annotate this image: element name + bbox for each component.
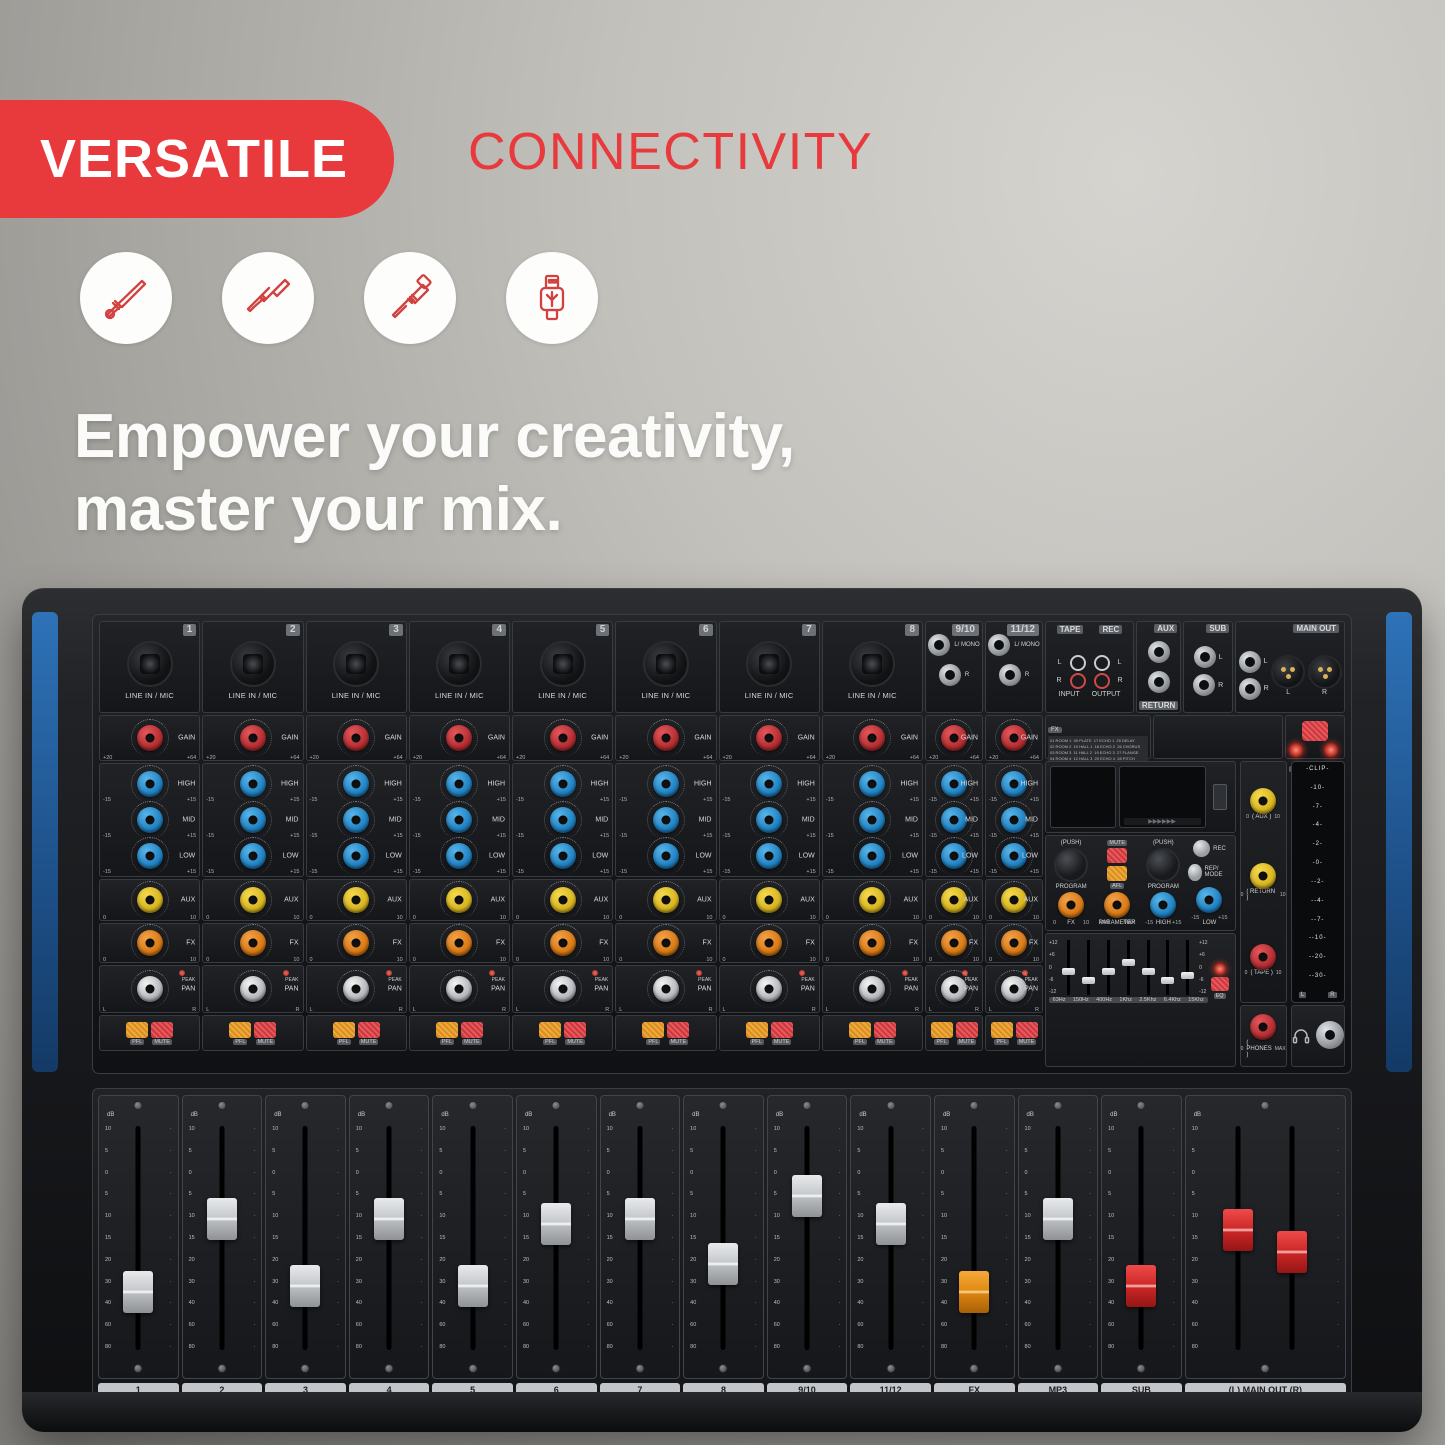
stereo-jack-cell-11/12[interactable]: 11/12 L/ MONO R (985, 621, 1043, 713)
knob-body-high[interactable] (343, 771, 369, 797)
master-knob-body[interactable] (1250, 788, 1276, 814)
knob-body-fx[interactable] (343, 930, 369, 956)
mute-label: MUTE (462, 1039, 482, 1045)
knob-body-gain[interactable] (653, 725, 679, 751)
fader-track[interactable] (136, 1126, 141, 1350)
power-led (1289, 743, 1303, 757)
fader-scale-tick: 30 (439, 1279, 445, 1285)
screw-bottom (635, 1364, 644, 1373)
sub-jack-left[interactable] (1194, 646, 1216, 668)
xlr-trs-combo-jack[interactable] (849, 641, 895, 687)
eq-slider-cap[interactable] (1062, 968, 1075, 975)
knob-mid[interactable]: MID -15 +15 (986, 802, 1042, 838)
mute-button-group[interactable]: MUTE (874, 1022, 896, 1045)
mute-button[interactable] (667, 1022, 689, 1038)
knob-high[interactable]: HIGH -15 +15 (100, 766, 199, 802)
knob-gain[interactable]: GAIN +20 +64 (616, 716, 715, 760)
knob-pan[interactable]: PAN L R (616, 966, 715, 1012)
knob-gain[interactable]: GAIN +20 +64 (513, 716, 612, 760)
knob-body-fx[interactable] (240, 930, 266, 956)
xlr-trs-combo-jack[interactable] (540, 641, 586, 687)
program-encoder-2[interactable] (1146, 848, 1180, 882)
knob-aux[interactable]: AUX 0 10 (203, 880, 302, 920)
knob-low[interactable]: LOW -15 +15 (616, 838, 715, 874)
dsp-afl-button[interactable] (1107, 866, 1127, 881)
master-knob-return[interactable]: 0 ( RETURN ) 10 (1241, 863, 1286, 901)
input-jack-cell-5[interactable]: 5 LINE IN / MIC (512, 621, 613, 713)
knob-mid[interactable]: MID -15 +15 (100, 802, 199, 838)
knob-label: AUX (284, 897, 298, 904)
pfl-button[interactable] (436, 1022, 458, 1038)
fader-cap[interactable] (708, 1243, 738, 1285)
knob-fx[interactable]: FX 0 10 (823, 924, 922, 962)
pfl-button[interactable] (991, 1022, 1013, 1038)
xlr-trs-combo-jack[interactable] (746, 641, 792, 687)
knob-label: GAIN (1021, 735, 1038, 742)
fader-slot[interactable]: dB 1050510152030406080 ··········· (934, 1095, 1015, 1379)
dsp-mute-button[interactable] (1107, 848, 1127, 863)
knob-body-mid[interactable] (756, 807, 782, 833)
knob-gain[interactable]: GAIN +20 +64 (307, 716, 406, 760)
knob-mid[interactable]: MID -15 +15 (410, 802, 509, 838)
fader-slot[interactable]: dB 1050510152030406080 ··········· (600, 1095, 681, 1379)
knob-body-high[interactable] (550, 771, 576, 797)
knob-body-aux[interactable] (137, 887, 163, 913)
knob-body-pan[interactable] (550, 976, 576, 1002)
knob-high[interactable]: HIGH -15 +15 (986, 766, 1042, 802)
fader-slot[interactable]: dB 1050510152030406080 ··········· (1101, 1095, 1182, 1379)
knob-min-label: L (619, 1007, 622, 1013)
knob-low[interactable]: LOW -15 +15 (720, 838, 819, 874)
pfl-button-group[interactable]: PFL (991, 1022, 1013, 1045)
fader-slot[interactable]: dB 1050510152030406080 ··········· (767, 1095, 848, 1379)
knob-mid[interactable]: MID -15 +15 (720, 802, 819, 838)
phantom-button[interactable] (1302, 721, 1328, 741)
knob-min-label: -15 (989, 869, 997, 875)
fader-scale-tick: 30 (941, 1279, 947, 1285)
tape-input-left-rca[interactable] (1070, 655, 1086, 671)
knob-high[interactable]: HIGH -15 +15 (203, 766, 302, 802)
knob-gain[interactable]: GAIN +20 +64 (203, 716, 302, 760)
pfl-button[interactable] (849, 1022, 871, 1038)
eq-slider-cap[interactable] (1181, 972, 1194, 979)
knob-fx[interactable]: FX 0 10 (926, 924, 982, 962)
knob-mid[interactable]: MID -15 +15 (307, 802, 406, 838)
eq-enable-group[interactable]: EQ (1208, 937, 1232, 1003)
input-jack-cell-8[interactable]: 8 LINE IN / MIC (822, 621, 923, 713)
knob-body-high[interactable] (137, 771, 163, 797)
knob-aux[interactable]: AUX 0 10 (926, 880, 982, 920)
aux-return-jack-2[interactable] (1148, 671, 1170, 693)
knob-mid[interactable]: MID -15 +15 (823, 802, 922, 838)
mute-button-group[interactable]: MUTE (461, 1022, 483, 1045)
knob-body-high[interactable] (653, 771, 679, 797)
stereo-jack-right[interactable] (939, 664, 961, 686)
knob-body-fx[interactable] (550, 930, 576, 956)
mute-button-group[interactable]: MUTE (151, 1022, 173, 1045)
mute-button[interactable] (1016, 1022, 1038, 1038)
aux-return-jack-1[interactable] (1148, 641, 1170, 663)
fader-cap[interactable] (876, 1203, 906, 1245)
fader-cap[interactable] (959, 1271, 989, 1313)
knob-gain[interactable]: GAIN +20 +64 (720, 716, 819, 760)
fader-cap[interactable] (1126, 1265, 1156, 1307)
fader-scale-right: ··········· (170, 1126, 172, 1350)
knob-body-gain[interactable] (550, 725, 576, 751)
stereo-jack-left[interactable] (928, 634, 950, 656)
knob-body-mid[interactable] (343, 807, 369, 833)
mute-button-group[interactable]: MUTE (254, 1022, 276, 1045)
mp3-high-knob[interactable] (1150, 892, 1176, 918)
input-jack-cell-3[interactable]: 3 LINE IN / MIC (306, 621, 407, 713)
usb-port[interactable] (1209, 766, 1231, 828)
fader-slot[interactable]: dB 1050510152030406080 ··········· (1018, 1095, 1099, 1379)
mute-button[interactable] (956, 1022, 978, 1038)
eq-slider-cap[interactable] (1161, 977, 1174, 984)
knob-fx[interactable]: FX 0 10 (307, 924, 406, 962)
fader-slot[interactable]: dB 1050510152030406080 ··········· (432, 1095, 513, 1379)
knob-pan[interactable]: PAN L R (100, 966, 199, 1012)
pfl-button[interactable] (229, 1022, 251, 1038)
fader-slot[interactable]: dB 1050510152030406080 ··········· (850, 1095, 931, 1379)
knob-body-pan[interactable] (941, 976, 967, 1002)
knob-pan[interactable]: PAN L R (203, 966, 302, 1012)
fader-scale-tick: 5 (607, 1191, 613, 1197)
xlr-trs-combo-jack[interactable] (127, 641, 173, 687)
pfl-button[interactable] (642, 1022, 664, 1038)
fader-cap[interactable] (123, 1271, 153, 1313)
knob-gain[interactable]: GAIN +20 +64 (986, 716, 1042, 760)
eq-slider-cap[interactable] (1142, 968, 1155, 975)
knob-aux[interactable]: AUX 0 10 (720, 880, 819, 920)
fader-slot[interactable]: dB 1050510152030406080 ··········· (265, 1095, 346, 1379)
fader-scale-right: ··········· (1089, 1126, 1091, 1350)
fader-cap-right[interactable] (1277, 1231, 1307, 1273)
knob-body-fx[interactable] (756, 930, 782, 956)
eq-scale-tick: +12 (1199, 940, 1207, 946)
parameter-knob[interactable] (1104, 892, 1130, 918)
knob-aux[interactable]: AUX 0 10 (513, 880, 612, 920)
screw-bottom (301, 1364, 310, 1373)
knob-gain[interactable]: GAIN +20 +64 (823, 716, 922, 760)
fader-scale-mark: · (337, 1300, 339, 1306)
mute-button[interactable] (461, 1022, 483, 1038)
fader-cap[interactable] (541, 1203, 571, 1245)
knob-body-low[interactable] (240, 843, 266, 869)
fader-scale-mark: · (337, 1235, 339, 1241)
knob-aux[interactable]: AUX 0 10 (100, 880, 199, 920)
pfl-button[interactable] (126, 1022, 148, 1038)
master-knob-body[interactable] (1250, 944, 1276, 970)
eq-slider-cap[interactable] (1102, 968, 1115, 975)
main-xlr-right[interactable] (1308, 655, 1342, 689)
knob-body-gain[interactable] (240, 725, 266, 751)
master-knob-tape[interactable]: 0 ( TAPE ) 10 (1245, 944, 1282, 976)
eq-slider-63Hz[interactable] (1064, 940, 1073, 995)
fader-scale-tick: 5 (607, 1148, 613, 1154)
input-jack-cell-4[interactable]: 4 LINE IN / MIC (409, 621, 510, 713)
pfl-button-group[interactable]: PFL (849, 1022, 871, 1045)
knob-body-pan[interactable] (137, 976, 163, 1002)
pfl-button-group[interactable]: PFL (746, 1022, 768, 1045)
eq-slider-6.4Khz[interactable] (1163, 940, 1172, 995)
knob-body-aux[interactable] (343, 887, 369, 913)
pfl-button-group[interactable]: PFL (229, 1022, 251, 1045)
knob-body-fx[interactable] (137, 930, 163, 956)
main-trs-right[interactable] (1239, 678, 1261, 700)
input-jack-cell-7[interactable]: 7 LINE IN / MIC (719, 621, 820, 713)
input-jack-cell-6[interactable]: 6 LINE IN / MIC (615, 621, 716, 713)
knob-mid[interactable]: MID -15 +15 (616, 802, 715, 838)
mute-button[interactable] (254, 1022, 276, 1038)
knob-body-mid[interactable] (137, 807, 163, 833)
knob-body-high[interactable] (240, 771, 266, 797)
fader-track[interactable] (470, 1126, 475, 1350)
phones-knob[interactable] (1250, 1014, 1276, 1040)
tape-input-right-rca[interactable] (1070, 673, 1086, 689)
pfl-button[interactable] (333, 1022, 355, 1038)
knob-body-pan[interactable] (343, 976, 369, 1002)
knob-high[interactable]: HIGH -15 +15 (720, 766, 819, 802)
mp3-low-knob[interactable] (1196, 887, 1222, 913)
knob-body-gain[interactable] (137, 725, 163, 751)
fader-scale-mark: · (253, 1257, 255, 1263)
rep-mode-button[interactable] (1188, 864, 1201, 881)
fader-scale-mark: · (755, 1126, 757, 1132)
knob-gain[interactable]: GAIN +20 +64 (410, 716, 509, 760)
stereo-jack-left[interactable] (988, 634, 1010, 656)
stereo-jack-cell-9/10[interactable]: 9/10 L/ MONO R (925, 621, 983, 713)
mute-button[interactable] (771, 1022, 793, 1038)
main-xlr-left[interactable] (1271, 655, 1305, 689)
knob-high[interactable]: HIGH -15 +15 (410, 766, 509, 802)
fader-cap[interactable] (290, 1265, 320, 1307)
knob-low[interactable]: LOW -15 +15 (823, 838, 922, 874)
phones-knob-cell[interactable]: 0 ( PHONES ) MAX (1240, 1005, 1287, 1067)
fader-cap[interactable] (374, 1198, 404, 1240)
tape-output-left-rca[interactable] (1094, 655, 1110, 671)
knob-high[interactable]: HIGH -15 +15 (926, 766, 982, 802)
knob-body-mid[interactable] (653, 807, 679, 833)
master-knob-body[interactable] (1250, 863, 1276, 889)
input-jack-cell-1[interactable]: 1 LINE IN / MIC (99, 621, 200, 713)
fader-track[interactable] (721, 1126, 726, 1350)
knob-body-low[interactable] (653, 843, 679, 869)
fader-track[interactable] (303, 1126, 308, 1350)
knob-pan[interactable]: PAN L R (513, 966, 612, 1012)
knob-body-aux[interactable] (756, 887, 782, 913)
mute-button-group[interactable]: MUTE (1016, 1022, 1038, 1045)
knob-label: LOW (799, 853, 815, 860)
knob-body-fx[interactable] (1001, 930, 1027, 956)
knob-low[interactable]: LOW -15 +15 (513, 838, 612, 874)
knob-body-low[interactable] (137, 843, 163, 869)
knob-body-low[interactable] (550, 843, 576, 869)
eq-slider-cap[interactable] (1122, 959, 1135, 966)
knob-body-mid[interactable] (550, 807, 576, 833)
knob-pan[interactable]: PAN L R (926, 966, 982, 1012)
screw-top (385, 1101, 394, 1110)
eq-slider-15Khz[interactable] (1183, 940, 1192, 995)
fader-slot[interactable]: dB 1050510152030406080 ··········· (516, 1095, 597, 1379)
knob-body-mid[interactable] (1001, 807, 1027, 833)
knob-high[interactable]: HIGH -15 +15 (513, 766, 612, 802)
mute-button-group[interactable]: MUTE (956, 1022, 978, 1045)
knob-body-pan[interactable] (240, 976, 266, 1002)
xlr-trs-combo-jack[interactable] (230, 641, 276, 687)
knob-body-fx[interactable] (653, 930, 679, 956)
master-knob-aux[interactable]: 0 ( AUX ) 10 (1246, 788, 1280, 820)
pfl-button-group[interactable]: PFL (436, 1022, 458, 1045)
knob-label: HIGH (797, 781, 815, 788)
knob-body-pan[interactable] (1001, 976, 1027, 1002)
knob-low[interactable]: LOW -15 +15 (100, 838, 199, 874)
eq-cell-4: HIGH -15 +15 MID -15 +15 LOW -15 +15 (409, 763, 510, 877)
fader-cap[interactable] (1043, 1198, 1073, 1240)
knob-pan[interactable]: PAN L R (720, 966, 819, 1012)
input-jack-cell-2[interactable]: 2 LINE IN / MIC (202, 621, 303, 713)
mute-button-group[interactable]: MUTE (564, 1022, 586, 1045)
fader-slot[interactable]: dB 1050510152030406080 ··········· (1185, 1095, 1346, 1379)
tape-output-right-rca[interactable] (1094, 673, 1110, 689)
knob-label: MID (389, 817, 402, 824)
knob-mid[interactable]: MID -15 +15 (926, 802, 982, 838)
fader-cap-left[interactable] (1223, 1209, 1253, 1251)
knob-pan[interactable]: PAN L R (410, 966, 509, 1012)
knob-fx[interactable]: FX 0 10 (410, 924, 509, 962)
level-meter: -CLIP--10--7--4--2--0---2---4---7---10--… (1291, 761, 1345, 1003)
knob-body-fx[interactable] (941, 930, 967, 956)
knob-label: AUX (800, 897, 814, 904)
knob-body-aux[interactable] (653, 887, 679, 913)
knob-fx[interactable]: FX 0 10 (513, 924, 612, 962)
knob-body-high[interactable] (756, 771, 782, 797)
eq-slider-cap[interactable] (1082, 977, 1095, 984)
fader-cap[interactable] (207, 1198, 237, 1240)
knob-body-low[interactable] (343, 843, 369, 869)
fader-slot[interactable]: dB 1050510152030406080 ··········· (98, 1095, 179, 1379)
phones-jack-cell[interactable] (1291, 1005, 1345, 1067)
knob-aux[interactable]: AUX 0 10 (986, 880, 1042, 920)
fader-track[interactable] (1139, 1126, 1144, 1350)
rec-left-label: L (1118, 659, 1122, 666)
stereo-jack-right[interactable] (999, 664, 1021, 686)
pfl-button-group[interactable]: PFL (539, 1022, 561, 1045)
knob-body-mid[interactable] (941, 807, 967, 833)
knob-body-pan[interactable] (653, 976, 679, 1002)
pfl-button[interactable] (539, 1022, 561, 1038)
knob-aux[interactable]: AUX 0 10 (307, 880, 406, 920)
knob-mid[interactable]: MID -15 +15 (203, 802, 302, 838)
pfl-button-group[interactable]: PFL (642, 1022, 664, 1045)
knob-gain[interactable]: GAIN +20 +64 (100, 716, 199, 760)
rec-button[interactable] (1193, 840, 1210, 857)
eq-button[interactable] (1211, 977, 1229, 991)
knob-body-aux[interactable] (240, 887, 266, 913)
mute-button-group[interactable]: MUTE (358, 1022, 380, 1045)
knob-gain[interactable]: GAIN +20 +64 (926, 716, 982, 760)
knob-aux[interactable]: AUX 0 10 (410, 880, 509, 920)
eq-slider-2.5Khz[interactable] (1144, 940, 1153, 995)
eq-slider-150Hz[interactable] (1084, 940, 1093, 995)
sub-jack-right[interactable] (1193, 674, 1215, 696)
knob-body-aux[interactable] (550, 887, 576, 913)
xlr-trs-combo-jack[interactable] (436, 641, 482, 687)
knob-high[interactable]: HIGH -15 +15 (307, 766, 406, 802)
knob-body-gain[interactable] (343, 725, 369, 751)
fx-knob[interactable] (1058, 892, 1084, 918)
fader-scale-mark: · (839, 1191, 841, 1197)
pfl-button[interactable] (746, 1022, 768, 1038)
mute-button[interactable] (358, 1022, 380, 1038)
pfl-button-group[interactable]: PFL (931, 1022, 953, 1045)
mute-button-group[interactable]: MUTE (771, 1022, 793, 1045)
fader-slot[interactable]: dB 1050510152030406080 ··········· (182, 1095, 263, 1379)
knob-body-gain[interactable] (756, 725, 782, 751)
knob-low[interactable]: LOW -15 +15 (203, 838, 302, 874)
mute-button[interactable] (564, 1022, 586, 1038)
phones-knob-max: MAX (1275, 1046, 1286, 1052)
fader-scale-mark: · (1337, 1170, 1339, 1176)
eq-slider-1Khz[interactable] (1124, 940, 1133, 995)
knob-low[interactable]: LOW -15 +15 (986, 838, 1042, 874)
fader-slot[interactable]: dB 1050510152030406080 ··········· (349, 1095, 430, 1379)
knob-fx[interactable]: FX 0 10 (616, 924, 715, 962)
knob-fx[interactable]: FX 0 10 (203, 924, 302, 962)
knob-body-mid[interactable] (240, 807, 266, 833)
mute-button[interactable] (151, 1022, 173, 1038)
main-trs-left[interactable] (1239, 651, 1261, 673)
mp3-low-max: +15 (1218, 915, 1227, 921)
knob-body-low[interactable] (756, 843, 782, 869)
knob-mid[interactable]: MID -15 +15 (513, 802, 612, 838)
knob-min-label: 0 (516, 915, 519, 921)
knob-body-pan[interactable] (756, 976, 782, 1002)
fader-cap[interactable] (625, 1198, 655, 1240)
knob-aux[interactable]: AUX 0 10 (616, 880, 715, 920)
knob-low[interactable]: LOW -15 +15 (926, 838, 982, 874)
knob-pan[interactable]: PAN L R (986, 966, 1042, 1012)
xlr-trs-combo-jack[interactable] (643, 641, 689, 687)
pfl-button-group[interactable]: PFL (126, 1022, 148, 1045)
phones-output-jack[interactable] (1316, 1021, 1344, 1049)
knob-low[interactable]: LOW -15 +15 (410, 838, 509, 874)
knob-high[interactable]: HIGH -15 +15 (823, 766, 922, 802)
knob-min-label: -15 (826, 869, 834, 875)
knob-pan[interactable]: PAN L R (823, 966, 922, 1012)
knob-fx[interactable]: FX 0 10 (986, 924, 1042, 962)
fader-track[interactable] (805, 1126, 810, 1350)
knob-fx[interactable]: FX 0 10 (100, 924, 199, 962)
pfl-button[interactable] (931, 1022, 953, 1038)
knob-pan[interactable]: PAN L R (307, 966, 406, 1012)
knob-min-label: 0 (619, 915, 622, 921)
xlr-trs-combo-jack[interactable] (333, 641, 379, 687)
program-encoder-1[interactable] (1054, 848, 1088, 882)
eq-slider-400Hz[interactable] (1104, 940, 1113, 995)
fader-slot[interactable]: dB 1050510152030406080 ··········· (683, 1095, 764, 1379)
knob-fx[interactable]: FX 0 10 (720, 924, 819, 962)
knob-high[interactable]: HIGH -15 +15 (616, 766, 715, 802)
mute-button-group[interactable]: MUTE (667, 1022, 689, 1045)
fader-track[interactable] (972, 1126, 977, 1350)
knob-low[interactable]: LOW -15 +15 (307, 838, 406, 874)
knob-aux[interactable]: AUX 0 10 (823, 880, 922, 920)
pfl-button-group[interactable]: PFL (333, 1022, 355, 1045)
mute-button[interactable] (874, 1022, 896, 1038)
fader-cap[interactable] (792, 1175, 822, 1217)
fader-cap[interactable] (458, 1265, 488, 1307)
